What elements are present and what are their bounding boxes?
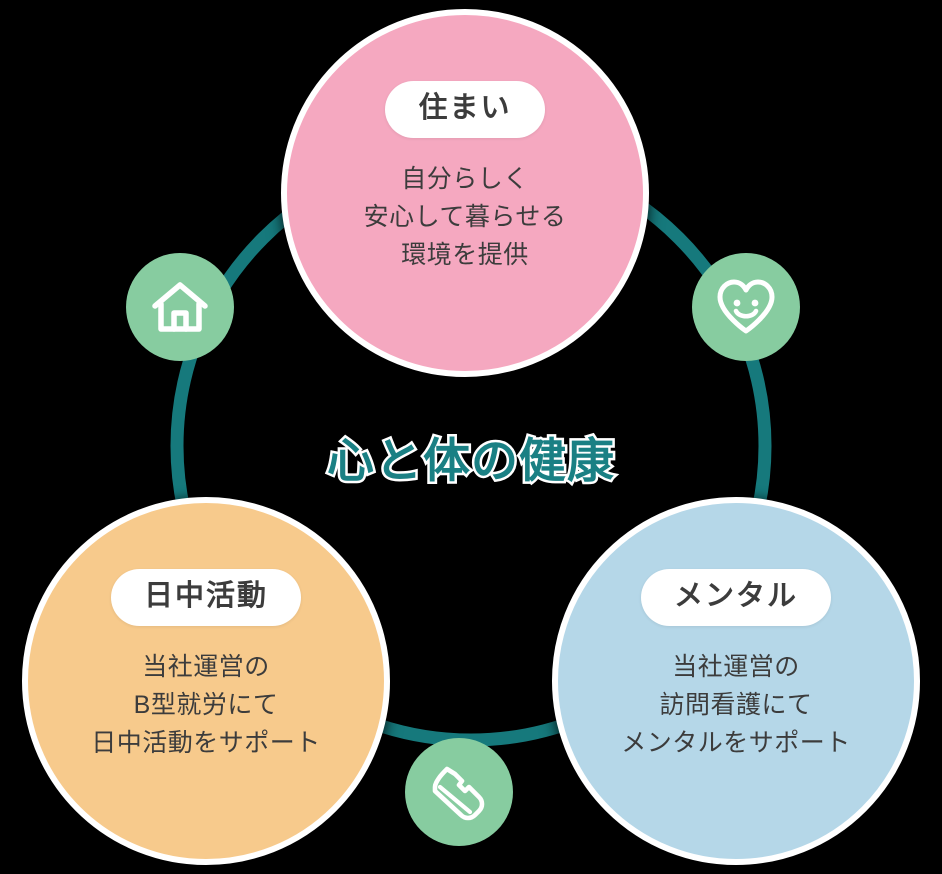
bubble-daytime-line-3: 日中活動をサポート	[91, 724, 321, 762]
bubble-housing-body: 自分らしく 安心して暮らせる 環境を提供	[364, 160, 567, 274]
house-icon	[151, 280, 209, 334]
bubble-housing[interactable]: 住まい 自分らしく 安心して暮らせる 環境を提供	[281, 9, 649, 377]
bubble-daytime-body: 当社運営の B型就労にて 日中活動をサポート	[91, 648, 321, 762]
bubble-mental-line-2: 訪問看護にて	[621, 686, 851, 724]
bubble-housing-label: 住まい	[385, 81, 544, 138]
center-title: 心と体の健康	[0, 437, 942, 484]
bubble-mental-label: メンタル	[641, 569, 831, 626]
bubble-daytime-line-1: 当社運営の	[91, 648, 321, 686]
bubble-housing-line-3: 環境を提供	[364, 236, 567, 274]
bubble-mental-line-3: メンタルをサポート	[621, 724, 851, 762]
icon-node-house[interactable]	[126, 253, 234, 361]
icon-node-heart-smile[interactable]	[692, 253, 800, 361]
bubble-housing-line-2: 安心して暮らせる	[364, 198, 567, 236]
infographic-canvas: 住まい 自分らしく 安心して暮らせる 環境を提供 日中活動 当社運営の B型就労…	[0, 0, 942, 874]
bubble-mental[interactable]: メンタル 当社運営の 訪問看護にて メンタルをサポート	[552, 497, 920, 865]
bubble-mental-body: 当社運営の 訪問看護にて メンタルをサポート	[621, 648, 851, 762]
bubble-daytime-label: 日中活動	[111, 569, 301, 626]
sneaker-icon	[428, 762, 490, 822]
bubble-mental-line-1: 当社運営の	[621, 648, 851, 686]
bubble-daytime-line-2: B型就労にて	[91, 686, 321, 724]
bubble-housing-line-1: 自分らしく	[364, 160, 567, 198]
heart-smile-icon	[716, 279, 776, 335]
bubble-daytime-activity[interactable]: 日中活動 当社運営の B型就労にて 日中活動をサポート	[22, 497, 390, 865]
icon-node-sneaker[interactable]	[405, 738, 513, 846]
